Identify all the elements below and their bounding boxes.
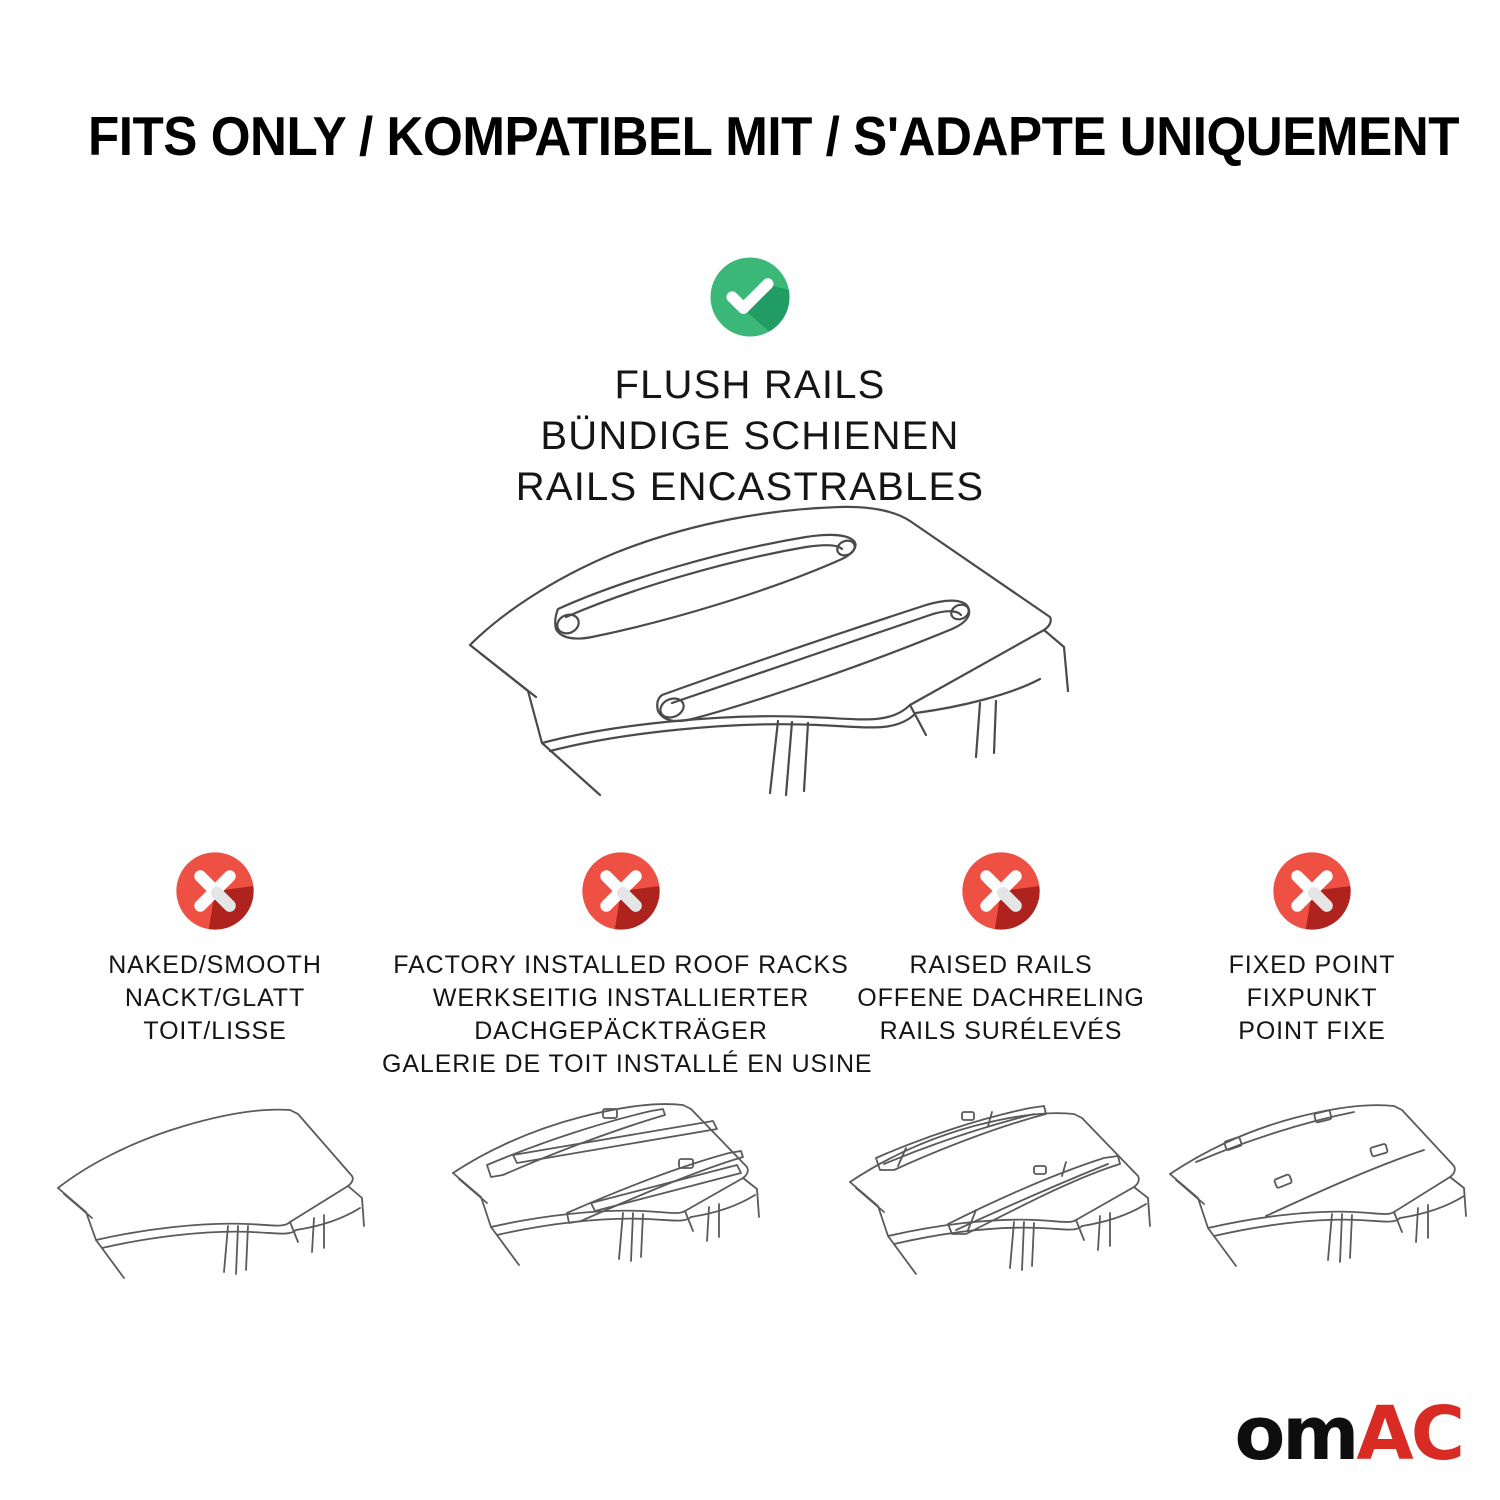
- fitment-infographic: FITS ONLY / KOMPATIBEL MIT / S'ADAPTE UN…: [0, 0, 1500, 1500]
- logo-text-red: AC: [1356, 1397, 1462, 1471]
- incompatible-label-3: FIXED POINT FIXPUNKT POINT FIXE: [1162, 949, 1462, 1048]
- cross-badge-wrapper-3: [1162, 845, 1462, 937]
- incompatible-label-1-line-2: WERKSEITIG INSTALLIERTER: [382, 982, 860, 1015]
- cross-circle-icon: [169, 845, 261, 937]
- cross-circle-icon: [1266, 845, 1358, 937]
- incompatible-label-1-line-4: GALERIE DE TOIT INSTALLÉ EN USINE: [382, 1048, 860, 1081]
- incompatible-label-2-line-2: OFFENE DACHRELING: [838, 982, 1164, 1015]
- incompatible-label-2-line-1: RAISED RAILS: [838, 949, 1164, 982]
- car-roof-factory-roof-racks-illustration: [382, 1095, 860, 1310]
- compatible-label-line-2: BÜNDIGE SCHIENEN: [0, 411, 1500, 462]
- incompatible-label-3-line-2: FIXPUNKT: [1162, 982, 1462, 1015]
- incompatible-item-fixed-point: FIXED POINT FIXPUNKT POINT FIXE: [1162, 845, 1462, 1315]
- incompatible-label-0-line-3: TOIT/LISSE: [52, 1015, 378, 1048]
- car-roof-naked-smooth-illustration: [52, 1100, 378, 1315]
- incompatible-label-0: NAKED/SMOOTH NACKT/GLATT TOIT/LISSE: [52, 949, 378, 1048]
- incompatible-label-1-line-3: DACHGEPÄCKTRÄGER: [382, 1015, 860, 1048]
- compatible-label-line-1: FLUSH RAILS: [0, 360, 1500, 411]
- incompatible-label-3-line-3: POINT FIXE: [1162, 1015, 1462, 1048]
- incompatible-label-1-line-1: FACTORY INSTALLED ROOF RACKS: [382, 949, 860, 982]
- omac-logo: omAC: [1234, 1398, 1462, 1470]
- incompatible-item-naked-smooth: NAKED/SMOOTH NACKT/GLATT TOIT/LISSE: [52, 845, 378, 1315]
- cross-badge-wrapper-1: [382, 845, 860, 937]
- cross-badge-wrapper-0: [52, 845, 378, 937]
- logo-text-dark: om: [1234, 1397, 1356, 1471]
- compatible-label: FLUSH RAILS BÜNDIGE SCHIENEN RAILS ENCAS…: [0, 360, 1500, 514]
- check-badge-wrapper: [0, 250, 1500, 344]
- incompatible-label-0-line-1: NAKED/SMOOTH: [52, 949, 378, 982]
- page-title: FITS ONLY / KOMPATIBEL MIT / S'ADAPTE UN…: [88, 108, 1334, 166]
- car-roof-fixed-point-illustration: [1162, 1100, 1462, 1315]
- incompatible-label-1: FACTORY INSTALLED ROOF RACKS WERKSEITIG …: [382, 949, 860, 1081]
- compatible-section: FLUSH RAILS BÜNDIGE SCHIENEN RAILS ENCAS…: [0, 250, 1500, 514]
- incompatible-label-2-line-3: RAILS SURÉLEVÉS: [838, 1015, 1164, 1048]
- incompatible-item-factory-roof-racks: FACTORY INSTALLED ROOF RACKS WERKSEITIG …: [382, 845, 860, 1310]
- incompatible-item-raised-rails: RAISED RAILS OFFENE DACHRELING RAILS SUR…: [838, 845, 1164, 1315]
- incompatible-section: NAKED/SMOOTH NACKT/GLATT TOIT/LISSE: [0, 845, 1500, 1325]
- incompatible-label-0-line-2: NACKT/GLATT: [52, 982, 378, 1015]
- incompatible-label-2: RAISED RAILS OFFENE DACHRELING RAILS SUR…: [838, 949, 1164, 1048]
- car-roof-flush-rails-illustration: [440, 495, 1080, 805]
- incompatible-label-3-line-1: FIXED POINT: [1162, 949, 1462, 982]
- car-roof-raised-rails-illustration: [838, 1100, 1164, 1315]
- cross-circle-icon: [575, 845, 667, 937]
- cross-circle-icon: [955, 845, 1047, 937]
- check-circle-icon: [703, 250, 797, 344]
- cross-badge-wrapper-2: [838, 845, 1164, 937]
